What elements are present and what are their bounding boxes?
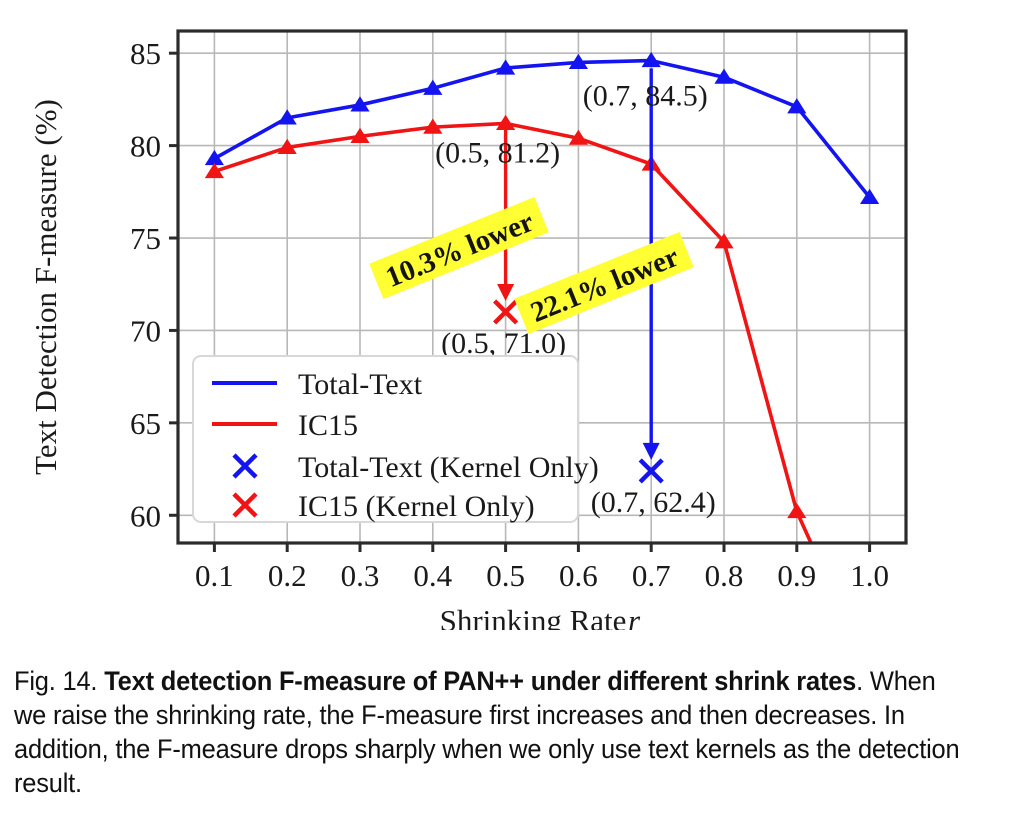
- xtick-label-0.5: 0.5: [486, 558, 525, 593]
- legend-item-ic15-kernel-only--label: IC15 (Kernel Only): [298, 490, 535, 523]
- xtick-label-0.1: 0.1: [195, 558, 234, 593]
- figure-caption: Fig. 14. Text detection F-measure of PAN…: [14, 664, 974, 800]
- legend-item-total-text-kernel-only--label: Total-Text (Kernel Only): [298, 451, 599, 484]
- chart-legend: Total-TextIC15Total-Text (Kernel Only)IC…: [193, 356, 599, 523]
- figure-chart: 6065707580850.10.20.30.40.50.60.70.80.91…: [0, 0, 1024, 630]
- y-axis-title: Text Detection F-measure (%): [28, 99, 63, 475]
- caption-bold: Text detection F-measure of PAN++ under …: [104, 666, 856, 696]
- xtick-label-0.6: 0.6: [559, 558, 598, 593]
- ytick-label-75: 75: [130, 221, 161, 256]
- ytick-label-60: 60: [130, 498, 161, 533]
- caption-prefix: Fig. 14.: [14, 666, 97, 696]
- ytick-label-70: 70: [130, 313, 161, 348]
- xtick-label-0.8: 0.8: [705, 558, 744, 593]
- xtick-label-0.4: 0.4: [413, 558, 452, 593]
- xtick-label-0.7: 0.7: [632, 558, 671, 593]
- xtick-label-0.3: 0.3: [341, 558, 380, 593]
- ytick-label-80: 80: [130, 129, 161, 164]
- xtick-label-0.2: 0.2: [268, 558, 307, 593]
- x-axis-title-variable: r: [628, 603, 641, 630]
- annotation-totaltext-peak: (0.7, 84.5): [583, 79, 708, 112]
- xtick-label-1.0: 1.0: [850, 558, 889, 593]
- xtick-label-0.9: 0.9: [777, 558, 816, 593]
- legend-item-ic15-label: IC15: [298, 409, 358, 442]
- annotation-totaltext-kernel: (0.7, 62.4): [591, 486, 716, 519]
- annotation-ic15-peak: (0.5, 81.2): [435, 136, 560, 169]
- x-axis-title: Shrinking Rate: [440, 603, 627, 630]
- ytick-label-85: 85: [130, 36, 161, 71]
- chart-svg: 6065707580850.10.20.30.40.50.60.70.80.91…: [0, 0, 1024, 630]
- ytick-label-65: 65: [130, 406, 161, 441]
- legend-item-total-text-label: Total-Text: [298, 368, 423, 401]
